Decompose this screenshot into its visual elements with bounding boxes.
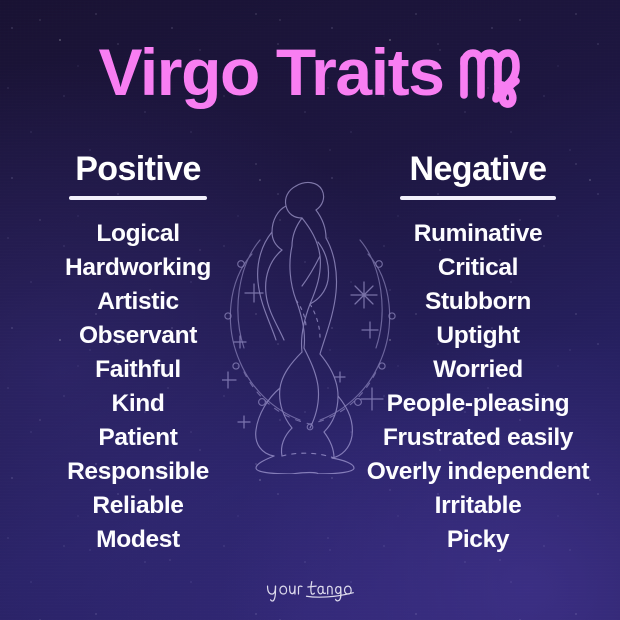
list-item: Patient	[4, 421, 272, 455]
list-item: Faithful	[4, 353, 272, 387]
list-item: Artistic	[4, 285, 272, 319]
negative-heading-underline	[400, 196, 556, 200]
list-item: Irritable	[344, 489, 612, 523]
list-item: Responsible	[4, 455, 272, 489]
negative-traits-list: Ruminative Critical Stubborn Uptight Wor…	[344, 217, 612, 557]
virgo-glyph-icon	[458, 35, 522, 109]
page-title: Virgo Traits	[98, 39, 443, 105]
list-item: Observant	[4, 319, 272, 353]
list-item: Modest	[4, 523, 272, 557]
list-item: Logical	[4, 217, 272, 251]
list-item: Hardworking	[4, 251, 272, 285]
list-item: Stubborn	[344, 285, 612, 319]
list-item: Picky	[344, 523, 612, 557]
list-item: Reliable	[4, 489, 272, 523]
list-item: Frustrated easily	[344, 421, 612, 455]
list-item: Worried	[344, 353, 612, 387]
list-item: Ruminative	[344, 217, 612, 251]
list-item: Critical	[344, 251, 612, 285]
list-item: Overly independent	[344, 455, 612, 489]
list-item: People-pleasing	[344, 387, 612, 421]
positive-traits-list: Logical Hardworking Artistic Observant F…	[4, 217, 272, 557]
positive-traits-column: Positive Logical Hardworking Artistic Ob…	[4, 152, 272, 557]
yourtango-logo: yourtango	[0, 579, 620, 602]
list-item: Kind	[4, 387, 272, 421]
positive-heading-underline	[69, 196, 207, 200]
traits-columns: Positive Logical Hardworking Artistic Ob…	[0, 152, 620, 557]
poster-title-row: Virgo Traits ♍	[0, 26, 620, 118]
poster-canvas: Virgo Traits ♍	[0, 0, 620, 620]
negative-column-heading: Negative	[410, 152, 547, 188]
list-item: Uptight	[344, 319, 612, 353]
negative-traits-column: Negative Ruminative Critical Stubborn Up…	[344, 152, 612, 557]
positive-column-heading: Positive	[75, 152, 201, 188]
